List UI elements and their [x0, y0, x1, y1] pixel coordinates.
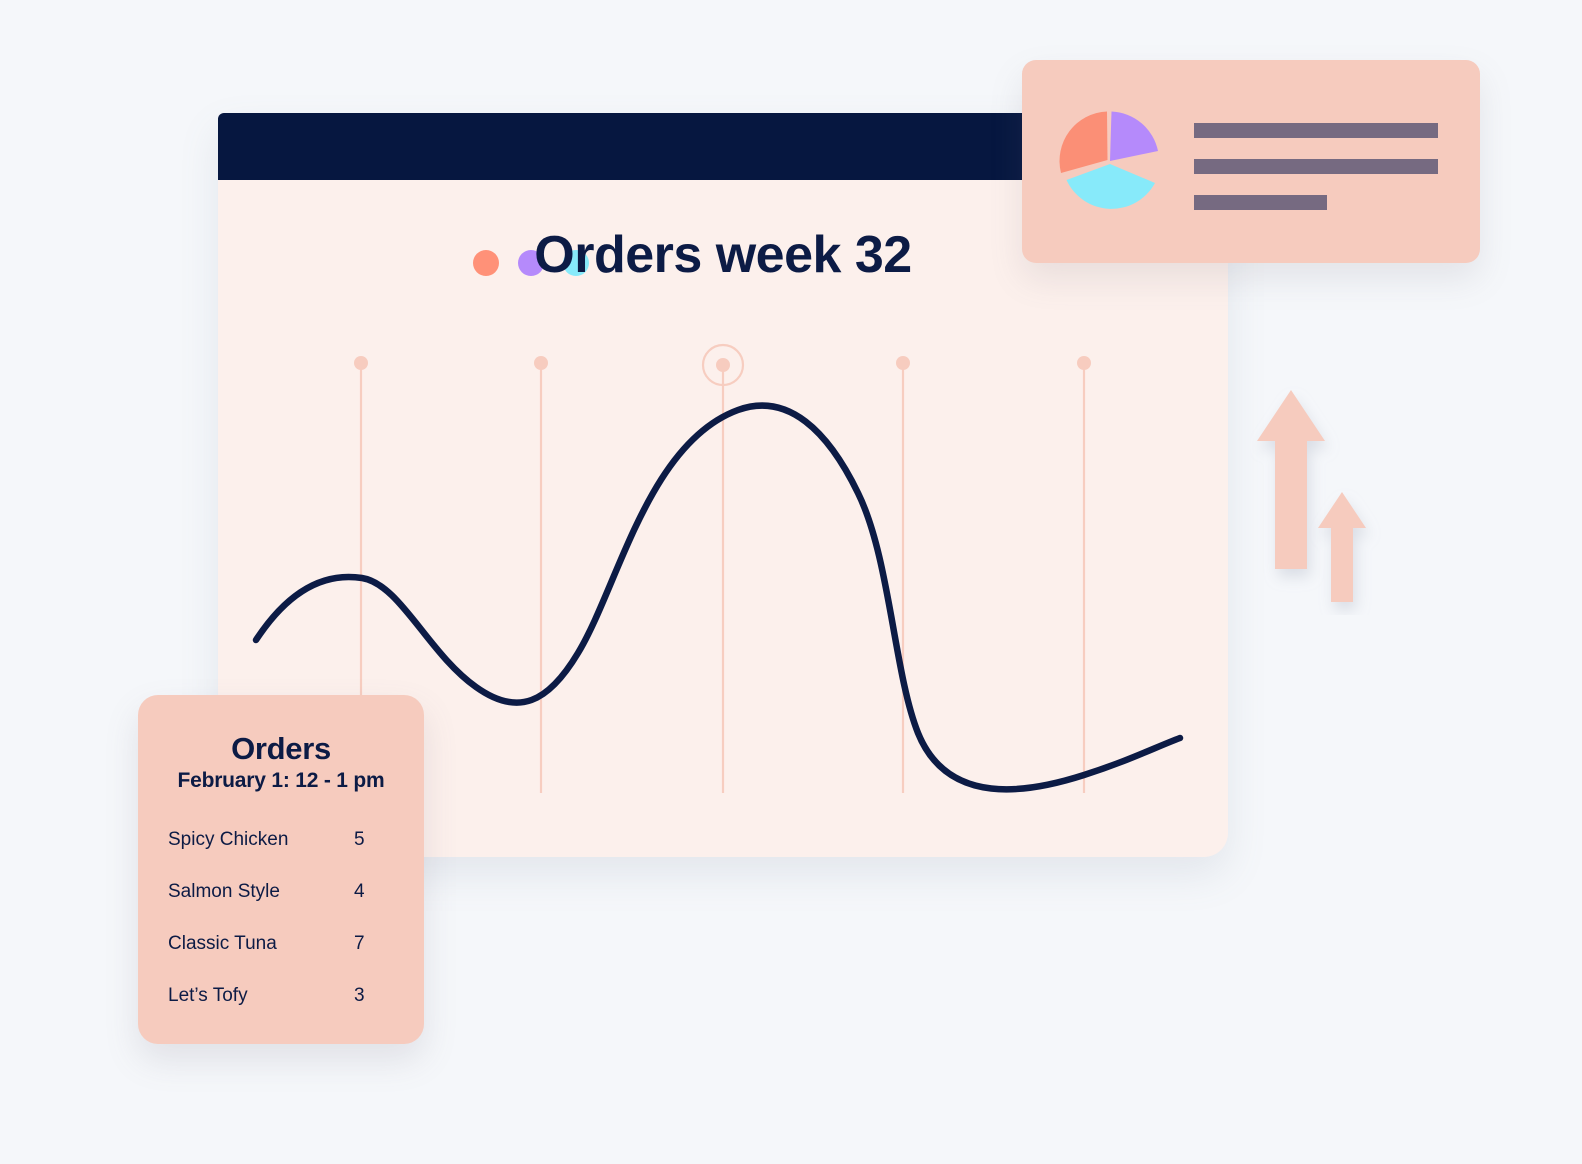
chart-gridlines: [361, 363, 1084, 793]
chart-point-3-selected[interactable]: [716, 358, 730, 372]
illustration-canvas: Orders week 32 Orders February 1: 12 - 1…: [0, 0, 1582, 1164]
orders-card-title: Orders: [138, 731, 424, 767]
order-item-qty: 4: [354, 881, 394, 903]
order-item-qty: 5: [354, 829, 394, 851]
pie-chart: [1052, 107, 1168, 215]
order-item-qty: 3: [354, 985, 394, 1007]
list-item: Spicy Chicken 5: [168, 829, 394, 851]
chart-point-2[interactable]: [534, 356, 548, 370]
text-placeholder-bar-3: [1194, 195, 1327, 210]
orders-card-subtitle: February 1: 12 - 1 pm: [138, 769, 424, 793]
orders-detail-card: Orders February 1: 12 - 1 pm Spicy Chick…: [138, 695, 424, 1044]
summary-card: [1022, 60, 1480, 263]
pie-slice-purple: [1110, 112, 1158, 162]
order-item-name: Spicy Chicken: [168, 829, 288, 851]
small-up-arrow-icon: [1318, 492, 1366, 602]
chart-point-5[interactable]: [1077, 356, 1091, 370]
large-up-arrow-icon: [1257, 390, 1325, 569]
chart-point-4[interactable]: [896, 356, 910, 370]
text-placeholder-bar-2: [1194, 159, 1438, 174]
chart-point-1[interactable]: [354, 356, 368, 370]
order-item-name: Classic Tuna: [168, 933, 277, 955]
summary-text-bars: [1194, 123, 1444, 231]
list-item: Let’s Tofy 3: [168, 985, 394, 1007]
text-placeholder-bar-1: [1194, 123, 1438, 138]
pie-slice-cyan: [1067, 164, 1156, 209]
pie-slice-coral: [1060, 112, 1108, 174]
orders-item-list: Spicy Chicken 5 Salmon Style 4 Classic T…: [138, 829, 424, 1007]
list-item: Classic Tuna 7: [168, 933, 394, 955]
order-item-name: Salmon Style: [168, 881, 280, 903]
order-item-qty: 7: [354, 933, 394, 955]
list-item: Salmon Style 4: [168, 881, 394, 903]
chart-point-markers[interactable]: [354, 356, 1091, 372]
order-item-name: Let’s Tofy: [168, 985, 248, 1007]
growth-arrows: [1250, 375, 1390, 615]
